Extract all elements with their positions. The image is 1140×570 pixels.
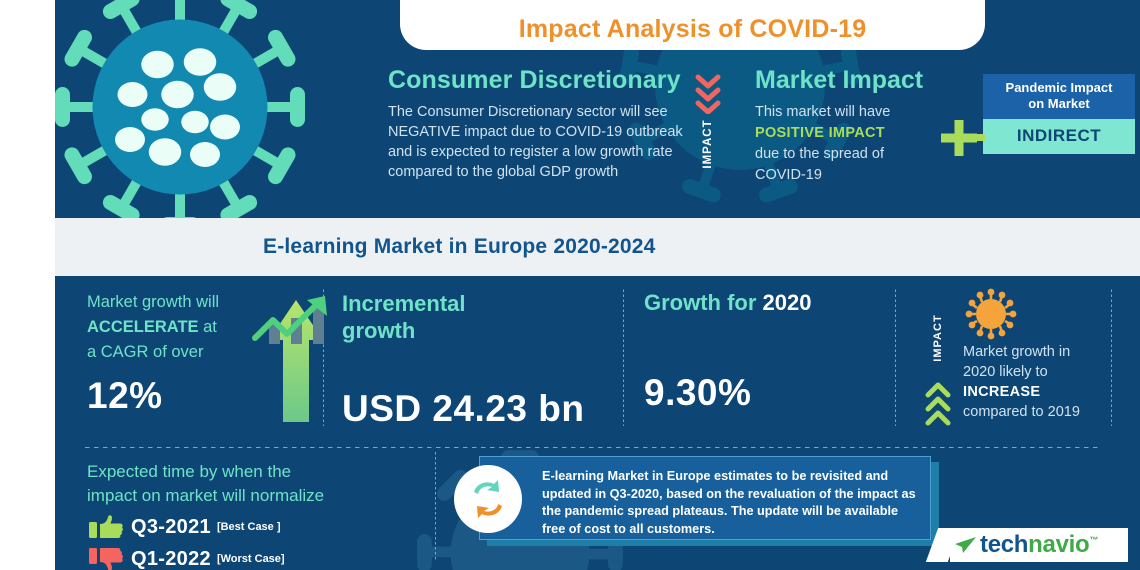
logo-part2: navio — [1028, 531, 1089, 558]
growth-2020-value: 9.30% — [644, 372, 874, 414]
market-title-band: E-learning Market in Europe 2020-2024 — [55, 218, 1140, 276]
stats-panel: Market growth will ACCELERATE at a CAGR … — [55, 276, 1140, 438]
pandemic-impact-box: Pandemic Impact on Market INDIRECT — [983, 74, 1135, 154]
chevron-up-icon — [923, 380, 953, 428]
pandemic-impact-heading: Pandemic Impact on Market — [983, 74, 1135, 119]
divider-bottom — [435, 452, 436, 560]
worst-case-quarter: Q1-2022 — [131, 548, 211, 570]
connector-bar — [967, 134, 985, 141]
virus-sun-icon — [963, 286, 1019, 342]
worst-case-tag: [Worst Case] — [217, 553, 285, 565]
consumer-discretionary-body: The Consumer Discretionary sector will s… — [388, 102, 698, 182]
impact-2020-text: Market growth in 2020 likely to INCREASE… — [963, 342, 1133, 422]
consumer-discretionary-block: Consumer Discretionary The Consumer Disc… — [388, 66, 698, 182]
page-title: Impact Analysis of COVID-19 — [519, 15, 867, 44]
paper-plane-icon — [954, 535, 978, 555]
pandemic-impact-value: INDIRECT — [983, 119, 1135, 154]
logo-text: technavio™ — [980, 531, 1098, 559]
cagr-line2-rest: at — [199, 318, 217, 336]
note-box: E-learning Market in Europe estimates to… — [479, 456, 931, 540]
market-impact-heading: Market Impact — [755, 66, 970, 95]
cagr-accelerate: ACCELERATE — [87, 318, 199, 336]
incremental-value: USD 24.23 bn — [342, 388, 597, 430]
thumbs-up-icon — [87, 514, 131, 540]
impact-2020-line3: compared to 2019 — [963, 402, 1133, 422]
best-case-quarter: Q3-2021 — [131, 516, 211, 539]
title-card: Impact Analysis of COVID-19 — [400, 0, 985, 50]
consumer-discretionary-heading: Consumer Discretionary — [388, 66, 698, 95]
logo-part1: tech — [980, 531, 1028, 558]
virus-illustration — [55, 0, 305, 218]
case-row-best: Q3-2021 [Best Case ] — [87, 514, 417, 540]
pandemic-impact-heading-line1: Pandemic Impact — [1006, 80, 1113, 95]
pandemic-impact-heading-line2: on Market — [1028, 96, 1089, 111]
market-impact-line3: COVID-19 — [755, 165, 970, 186]
incremental-growth-stat: Incremental growth USD 24.23 bn — [342, 290, 597, 430]
case-row-worst: Q1-2022 [Worst Case] — [87, 546, 417, 570]
market-impact-block: Market Impact This market will have POSI… — [755, 66, 970, 186]
growth-2020-year: 2020 — [763, 290, 812, 315]
impact-label-vertical: IMPACT — [702, 108, 714, 180]
refresh-cycle-icon — [454, 465, 522, 533]
impact-2020-line1: Market growth in — [963, 342, 1133, 362]
impact-label-vertical-2: IMPACT — [932, 299, 944, 377]
note-text: E-learning Market in Europe estimates to… — [542, 468, 922, 538]
market-impact-line1: This market will have — [755, 102, 970, 123]
market-impact-line2: due to the spread of — [755, 144, 970, 165]
market-impact-highlight: POSITIVE IMPACT — [755, 123, 970, 144]
impact-2020-line2: 2020 likely to — [963, 362, 1133, 382]
impact-indicator-negative: IMPACT — [692, 72, 724, 192]
impact-2020-block: IMPACT — [915, 284, 1135, 434]
trending-up-icon — [251, 294, 333, 346]
incremental-heading-line1: Incremental — [342, 290, 597, 317]
top-panel: Impact Analysis of COVID-19 Consumer Dis… — [55, 0, 1140, 218]
best-case-tag: [Best Case ] — [217, 521, 281, 533]
growth-2020-label: Growth for — [644, 290, 763, 315]
incremental-heading-line2: growth — [342, 317, 597, 344]
growth-2020-stat: Growth for 2020 9.30% — [644, 290, 874, 414]
impact-indicator-positive: IMPACT — [921, 306, 955, 430]
technavio-logo: technavio™ — [950, 528, 1128, 562]
normalize-block: Expected time by when the impact on mark… — [87, 460, 417, 570]
infographic-root: Impact Analysis of COVID-19 Consumer Dis… — [0, 0, 1140, 570]
impact-2020-highlight: INCREASE — [963, 382, 1133, 402]
divider-3 — [895, 288, 896, 426]
logo-trademark: ™ — [1089, 535, 1098, 545]
normalize-heading-line1: Expected time by when the — [87, 460, 417, 484]
normalize-heading-line2: impact on market will normalize — [87, 484, 417, 508]
thumbs-down-icon — [87, 546, 131, 570]
divider-2 — [623, 288, 624, 426]
market-title: E-learning Market in Europe 2020-2024 — [263, 235, 656, 259]
